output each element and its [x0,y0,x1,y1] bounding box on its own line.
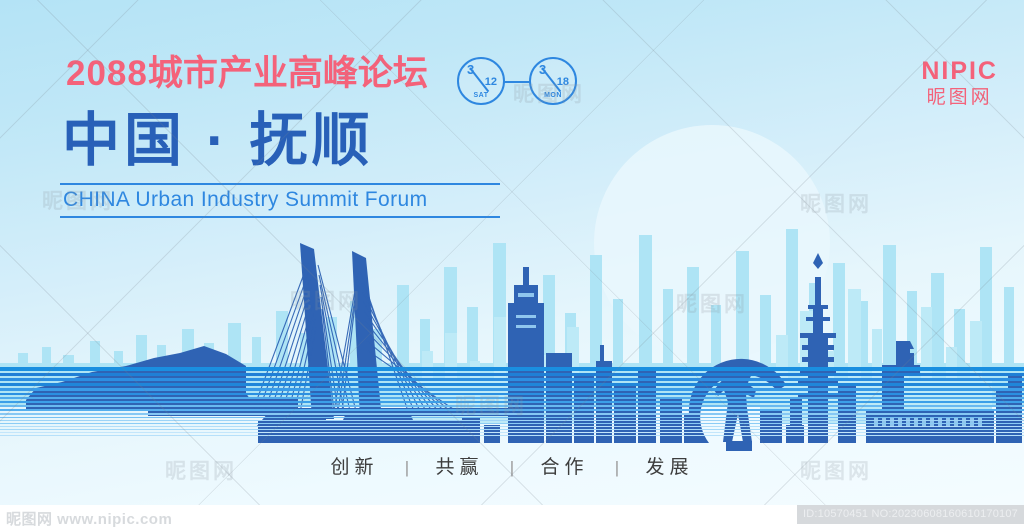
headline-text: 城市产业高峰论坛 [148,54,428,93]
footer-bar: 昵图网 www.nipic.com ID:10570451 NO:2023060… [0,505,1024,529]
water-stripe-band [0,367,1024,423]
start-weekday: SAT [459,92,503,99]
date-badge-end[interactable]: 3 18 MON [529,57,577,105]
slogan-separator: | [496,458,528,477]
slogan-separator: | [391,458,423,477]
slogan-word-2: 共赢 [433,457,485,478]
slogan-word-4: 发展 [643,457,695,478]
slogan-bar: 创新 | 共赢 | 合作 | 发展 [0,452,1024,479]
nipic-logo: NIPIC 昵图网 [921,58,998,110]
slogan-word-1: 创新 [328,457,380,478]
start-month: 3 [467,63,474,76]
subtitle-rule-bottom [60,216,500,218]
poster-canvas: 2088城市产业高峰论坛 3 12 SAT 3 18 MON 中国 · 抚顺 C… [0,0,1024,529]
start-day: 12 [485,77,497,88]
poster-artwork: 2088城市产业高峰论坛 3 12 SAT 3 18 MON 中国 · 抚顺 C… [0,0,1024,505]
event-date-badges: 3 12 SAT 3 18 MON [457,57,577,107]
event-headline: 2088城市产业高峰论坛 [66,56,428,91]
page-title: 中国 · 抚顺 [62,112,374,170]
english-subtitle-block: CHINA Urban Industry Summit Forum [60,183,500,218]
end-day: 18 [557,77,569,88]
date-connector-line [504,81,530,83]
logo-en-text: NIPIC [921,58,998,86]
logo-cn-text: 昵图网 [921,86,998,111]
slogan-word-3: 合作 [538,457,590,478]
slogan-separator: | [601,458,633,477]
english-subtitle: CHINA Urban Industry Summit Forum [60,185,500,216]
end-weekday: MON [531,92,575,99]
date-badge-start[interactable]: 3 12 SAT [457,57,505,105]
footer-site-watermark: 昵图网 www.nipic.com [6,508,172,529]
end-month: 3 [539,63,546,76]
headline-year: 2088 [66,54,148,93]
footer-id-label: ID:10570451 NO:20230608160610170107 [797,505,1024,524]
